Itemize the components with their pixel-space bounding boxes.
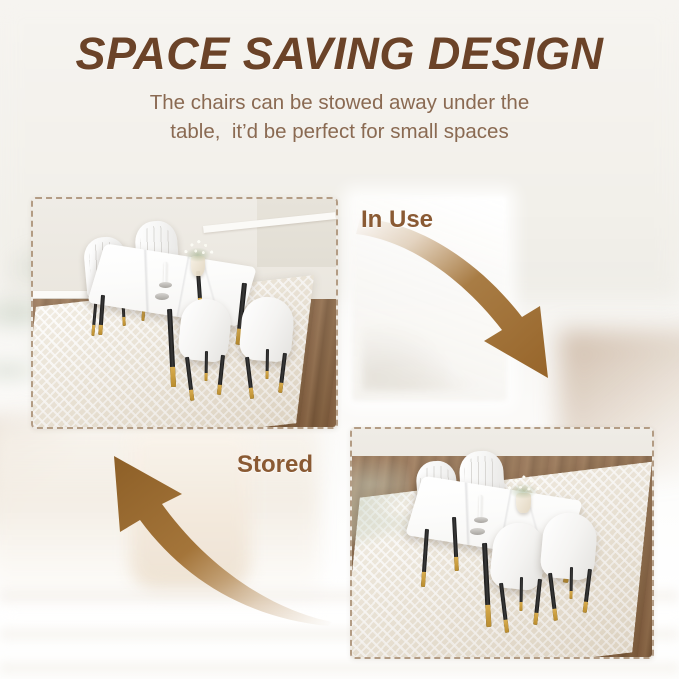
background-band (0, 660, 679, 676)
subtitle-line-1: The chairs can be stowed away under the (90, 88, 590, 117)
photo-stored-scene (352, 429, 652, 657)
chair-leg (204, 351, 208, 381)
background-pot (130, 430, 250, 590)
chair-leg (519, 577, 523, 611)
photo-card-stored[interactable] (350, 427, 654, 659)
chair-leg (569, 567, 573, 599)
candle-base (159, 282, 172, 288)
candle-base (474, 517, 488, 523)
candle-base (155, 293, 169, 300)
label-in-use: In Use (361, 206, 433, 234)
flowers (179, 236, 217, 262)
page-subtitle: The chairs can be stowed away under the … (90, 88, 590, 146)
subtitle-line-2: table, it’d be perfect for small spaces (90, 117, 590, 146)
plant-icon (352, 457, 410, 567)
photo-in-use-scene (33, 199, 336, 427)
page-title: SPACE SAVING DESIGN (0, 30, 679, 78)
room-wall-side (257, 199, 336, 267)
flowers (502, 471, 544, 499)
infographic-canvas: SPACE SAVING DESIGN The chairs can be st… (0, 0, 679, 679)
heading-block: SPACE SAVING DESIGN The chairs can be st… (0, 30, 679, 146)
label-stored: Stored (237, 451, 313, 479)
photo-card-in-use[interactable] (31, 197, 338, 429)
candle-base (470, 528, 485, 535)
chair-leg (265, 349, 269, 379)
